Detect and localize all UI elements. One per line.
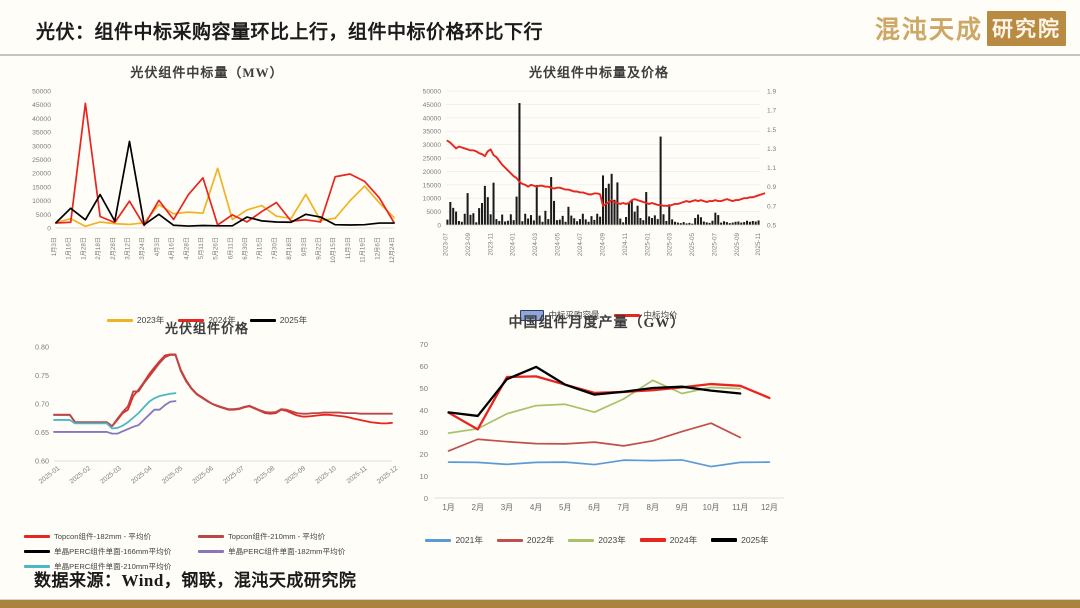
bar <box>746 221 748 225</box>
legend-swatch <box>425 539 451 542</box>
axis-tick-label: 15000 <box>32 184 51 191</box>
legend-swatch <box>568 539 594 542</box>
axis-tick-label: 0.60 <box>35 457 49 466</box>
chart-svg-module-price: 0.600.650.700.750.802025-012025-022025-0… <box>14 341 400 521</box>
bar <box>614 200 616 225</box>
bar <box>550 177 552 225</box>
header-divider <box>0 54 1080 56</box>
legend-item: 2024年 <box>640 534 697 546</box>
axis-tick-label: 2025-03 <box>99 465 123 486</box>
bar <box>507 221 509 225</box>
axis-tick-label: 45000 <box>423 102 442 109</box>
data-source-note: 数据来源：Wind，钢联，混沌天成研究院 <box>34 566 356 591</box>
axis-tick-label: 12月 <box>761 503 778 512</box>
legend-label: 2024年 <box>670 534 697 546</box>
axis-tick-label: 2023-09 <box>465 233 472 257</box>
axis-tick-label: 6月30日 <box>242 237 249 260</box>
legend-label: 2022年 <box>527 534 554 546</box>
legend-item: 2021年 <box>425 534 482 546</box>
axis-tick-label: 2025-11 <box>755 233 762 256</box>
bar <box>703 222 705 225</box>
bar <box>556 220 558 225</box>
bar <box>642 220 644 225</box>
legend-label: Topcon组件-210mm - 平均价 <box>228 531 325 542</box>
axis-tick-label: 2025-07 <box>222 465 246 486</box>
axis-tick-label: 11月3日 <box>345 237 352 259</box>
axis-tick-label: 2月18日 <box>95 237 102 260</box>
axis-tick-label: 20000 <box>423 169 442 176</box>
axis-tick-label: 50 <box>420 384 428 393</box>
bar <box>608 184 610 225</box>
axis-tick-label: 0.7 <box>767 203 776 210</box>
legend-item: 单晶PERC组件单面-182mm平均价 <box>198 546 358 557</box>
bar <box>628 203 630 225</box>
chart-legend-monthly-output: 2021年 2022年 2023年 2024年 2025年 <box>400 534 794 546</box>
bar <box>501 215 503 225</box>
axis-tick-label: 5000 <box>36 212 51 219</box>
legend-label: 单晶PERC组件单面-166mm平均价 <box>54 546 171 557</box>
bar <box>553 201 555 225</box>
axis-tick-label: 2025-03 <box>667 233 674 257</box>
bar <box>472 213 474 225</box>
axis-tick-label: 25000 <box>423 156 442 163</box>
axis-tick-label: 1.9 <box>767 89 776 96</box>
legend-swatch <box>24 550 50 553</box>
chart-svg-monthly-output: 0102030405060701月2月3月4月5月6月7月8月9月10月11月1… <box>400 338 794 528</box>
axis-tick-label: 11月19日 <box>360 237 367 263</box>
axis-tick-label: 7月 <box>617 503 629 512</box>
bar <box>717 215 719 225</box>
axis-tick-label: 2024-03 <box>532 233 539 257</box>
axis-tick-label: 9月22日 <box>316 237 323 260</box>
bar <box>510 214 512 225</box>
bar <box>455 212 457 225</box>
bar <box>755 222 757 225</box>
axis-tick-label: 2025-11 <box>346 465 369 485</box>
bar <box>481 203 483 225</box>
axis-tick-label: 6月11日 <box>227 237 234 259</box>
axis-tick-label: 2025-10 <box>314 465 338 486</box>
axis-tick-label: 70 <box>420 340 428 349</box>
axis-tick-label: 30000 <box>32 143 51 150</box>
bar <box>530 215 532 225</box>
axis-tick-label: 60 <box>420 362 428 371</box>
axis-tick-label: 0.70 <box>35 400 49 409</box>
axis-tick-label: 0.75 <box>35 371 49 380</box>
bar <box>518 103 520 225</box>
axis-tick-label: 0 <box>424 494 428 503</box>
bar <box>567 207 569 225</box>
chart-svg-bid-volume: 0500010000150002000025000300003500040000… <box>14 85 400 290</box>
bar <box>452 208 454 225</box>
axis-tick-label: 1月16日 <box>66 237 73 260</box>
axis-tick-label: 1月28日 <box>80 237 87 260</box>
bar <box>573 218 575 225</box>
bar <box>634 212 636 225</box>
axis-tick-label: 2025-05 <box>161 465 185 486</box>
axis-tick-label: 0 <box>437 223 441 230</box>
chart-title-bid-volume-price: 光伏组件中标量及价格 <box>404 62 794 81</box>
bar <box>648 216 650 225</box>
series-line <box>54 354 392 426</box>
bar <box>662 214 664 225</box>
axis-tick-label: 8月 <box>647 503 659 512</box>
bar <box>758 220 760 225</box>
chart-svg-bid-volume-price: 0500010000150002000025000300003500040000… <box>404 85 794 285</box>
axis-tick-label: 1月 <box>442 503 454 512</box>
bar <box>706 222 708 225</box>
slide-root: 光伏：组件中标采购容量环比上行，组件中标价格环比下行 混沌天成 研究院 光伏组件… <box>0 0 1080 608</box>
axis-tick-label: 2025-02 <box>69 465 93 486</box>
axis-tick-label: 15000 <box>423 182 442 189</box>
bar <box>737 222 739 225</box>
axis-tick-label: 2025-08 <box>253 465 277 486</box>
axis-tick-label: 2025-06 <box>191 465 215 486</box>
axis-tick-label: 8月18日 <box>286 237 293 260</box>
axis-tick-label: 35000 <box>423 129 442 136</box>
axis-tick-label: 2025-05 <box>689 233 696 257</box>
bar <box>469 215 471 225</box>
axis-tick-label: 0.5 <box>767 223 776 230</box>
axis-tick-label: 0 <box>47 226 51 233</box>
bar <box>458 221 460 225</box>
axis-tick-label: 12月24日 <box>389 237 396 263</box>
bar <box>504 222 506 225</box>
bar <box>711 221 713 225</box>
axis-tick-label: 10 <box>420 472 428 481</box>
bar <box>665 221 667 225</box>
series-line <box>449 423 741 451</box>
axis-tick-label: 2月 <box>472 503 484 512</box>
chart-panel-module-price: 光伏组件价格 0.600.650.700.750.802025-012025-0… <box>14 318 400 568</box>
bar <box>674 222 676 225</box>
axis-tick-label: 10000 <box>423 196 442 203</box>
bar <box>700 217 702 225</box>
bar <box>625 217 627 225</box>
bar <box>752 221 754 225</box>
axis-tick-label: 1.1 <box>767 165 776 172</box>
bar <box>660 137 662 225</box>
page-title: 光伏：组件中标采购容量环比上行，组件中标价格环比下行 <box>36 17 543 44</box>
axis-tick-label: 9月3日 <box>301 237 308 256</box>
bar <box>464 214 466 225</box>
chart-title-module-price: 光伏组件价格 <box>14 318 400 337</box>
axis-tick-label: 5月26日 <box>213 237 220 260</box>
axis-tick-label: 3月12日 <box>124 237 131 260</box>
bar <box>585 219 587 225</box>
bar <box>622 222 624 225</box>
bar <box>645 192 647 225</box>
legend-label: 2021年 <box>455 534 482 546</box>
bar <box>493 183 495 225</box>
bar <box>490 214 492 225</box>
bar <box>714 213 716 225</box>
bar <box>498 221 500 225</box>
bar <box>547 219 549 225</box>
bar <box>605 188 607 225</box>
legend-item: 2023年 <box>568 534 625 546</box>
slide-header: 光伏：组件中标采购容量环比上行，组件中标价格环比下行 混沌天成 研究院 <box>0 0 1080 56</box>
bar <box>467 193 469 225</box>
bar <box>671 219 673 225</box>
axis-tick-label: 2024-01 <box>510 233 517 257</box>
axis-tick-label: 0.80 <box>35 343 49 352</box>
bar <box>562 216 564 225</box>
axis-tick-label: 4月3日 <box>154 237 161 256</box>
bar <box>570 216 572 225</box>
axis-tick-label: 2023-11 <box>487 233 494 256</box>
axis-tick-label: 3月24日 <box>139 237 146 260</box>
bar <box>590 216 592 225</box>
axis-tick-label: 3月 <box>501 503 513 512</box>
logo-wordmark: 混沌天成 <box>875 10 983 46</box>
bar <box>539 216 541 225</box>
axis-tick-label: 4月28日 <box>183 237 190 260</box>
axis-tick-label: 11月 <box>732 503 748 512</box>
legend-label: 单晶PERC组件单面-182mm平均价 <box>228 546 345 557</box>
bar <box>749 222 751 225</box>
series-line <box>449 376 770 429</box>
legend-label: 2023年 <box>598 534 625 546</box>
bar <box>559 220 561 225</box>
bar <box>654 215 656 225</box>
bar <box>461 222 463 225</box>
axis-tick-label: 2025-01 <box>644 233 651 257</box>
series-line <box>56 141 394 226</box>
axis-tick-label: 30 <box>420 428 428 437</box>
axis-tick-label: 0.65 <box>35 428 49 437</box>
chart-panel-monthly-output: 中国组件月度产量（GW） 0102030405060701月2月3月4月5月6月… <box>400 312 794 562</box>
axis-tick-label: 25000 <box>32 157 51 164</box>
bar <box>596 214 598 225</box>
bar <box>527 219 529 225</box>
bar <box>694 218 696 225</box>
axis-tick-label: 10000 <box>32 198 51 205</box>
bar <box>541 222 543 225</box>
axis-tick-label: 2025-01 <box>38 465 62 486</box>
bar <box>536 185 538 225</box>
axis-tick-label: 10月 <box>703 503 720 512</box>
legend-swatch <box>711 538 737 542</box>
bar <box>565 222 567 225</box>
axis-tick-label: 1.3 <box>767 146 776 153</box>
axis-tick-label: 40000 <box>32 116 51 123</box>
axis-tick-label: 12月6日 <box>374 237 381 260</box>
axis-tick-label: 50000 <box>423 89 442 96</box>
legend-label: 2025年 <box>741 534 768 546</box>
axis-tick-label: 0.9 <box>767 184 776 191</box>
axis-tick-label: 40 <box>420 406 428 415</box>
bar <box>599 217 601 225</box>
axis-tick-label: 20000 <box>32 171 51 178</box>
bar <box>544 211 546 225</box>
footer-accent-bar <box>0 600 1080 608</box>
legend-swatch <box>198 535 224 538</box>
axis-tick-label: 2023-07 <box>442 233 449 257</box>
bar <box>446 220 448 225</box>
axis-tick-label: 40000 <box>423 115 442 122</box>
chart-title-bid-volume: 光伏组件中标量（MW） <box>14 62 400 81</box>
bar <box>697 215 699 225</box>
bar <box>683 222 685 225</box>
legend-item: 单晶PERC组件单面-166mm平均价 <box>24 546 184 557</box>
bar <box>516 197 518 225</box>
legend-label: Topcon组件-182mm - 平均价 <box>54 531 151 542</box>
legend-swatch <box>497 539 523 542</box>
bar <box>478 208 480 225</box>
axis-tick-label: 2025-07 <box>712 233 719 257</box>
series-line <box>449 460 770 467</box>
brand-logo: 混沌天成 研究院 <box>875 8 1066 48</box>
legend-swatch <box>24 535 50 538</box>
bar <box>521 221 523 225</box>
bar <box>668 204 670 225</box>
bar <box>593 220 595 225</box>
axis-tick-label: 2025-12 <box>376 465 400 486</box>
axis-tick-label: 1.5 <box>767 127 776 134</box>
bar <box>576 221 578 225</box>
axis-tick-label: 4月16日 <box>169 237 176 260</box>
legend-swatch <box>198 550 224 553</box>
bar <box>619 219 621 225</box>
bar <box>743 222 745 225</box>
axis-tick-label: 5月 <box>559 503 571 512</box>
bar <box>582 214 584 225</box>
axis-tick-label: 2025-09 <box>284 465 308 486</box>
axis-tick-label: 7月30日 <box>271 237 278 260</box>
axis-tick-label: 10月15日 <box>330 237 337 263</box>
axis-tick-label: 7月15日 <box>257 237 264 260</box>
bar <box>723 221 725 225</box>
axis-tick-label: 1.7 <box>767 108 776 115</box>
axis-tick-label: 2025-09 <box>734 233 741 257</box>
series-line <box>449 367 741 416</box>
bar <box>637 206 639 225</box>
chart-panel-bid-volume-price: 光伏组件中标量及价格 05000100001500020000250003000… <box>404 62 794 312</box>
legend-item: Topcon组件-182mm - 平均价 <box>24 531 184 542</box>
legend-item: 2025年 <box>711 534 768 546</box>
chart-title-monthly-output: 中国组件月度产量（GW） <box>400 312 794 332</box>
bar <box>631 200 633 225</box>
axis-tick-label: 2024-07 <box>577 233 584 257</box>
axis-tick-label: 6月 <box>588 503 600 512</box>
axis-tick-label: 2024-09 <box>599 233 606 257</box>
legend-item: 2022年 <box>497 534 554 546</box>
bar <box>657 219 659 225</box>
bar <box>475 222 477 225</box>
axis-tick-label: 2024-11 <box>622 233 629 256</box>
axis-tick-label: 5000 <box>426 209 441 216</box>
bar <box>495 219 497 225</box>
bar <box>524 214 526 225</box>
legend-swatch <box>640 538 666 542</box>
axis-tick-label: 35000 <box>32 130 51 137</box>
axis-tick-label: 5月11日 <box>198 237 205 259</box>
axis-tick-label: 45000 <box>32 102 51 109</box>
axis-tick-label: 20 <box>420 450 428 459</box>
bar <box>484 186 486 225</box>
axis-tick-label: 9月 <box>676 503 688 512</box>
axis-tick-label: 30000 <box>423 142 442 149</box>
axis-tick-label: 4月 <box>530 503 542 512</box>
bar <box>487 197 489 225</box>
series-line <box>56 168 394 226</box>
bar <box>588 222 590 225</box>
bar <box>735 222 737 225</box>
logo-seal-badge: 研究院 <box>987 11 1066 46</box>
bar <box>651 218 653 225</box>
bar <box>449 202 451 225</box>
chart-panel-bid-volume: 光伏组件中标量（MW） 0500010000150002000025000300… <box>14 62 400 312</box>
axis-tick-label: 2月28日 <box>110 237 117 260</box>
axis-tick-label: 2025-04 <box>130 465 154 486</box>
bar <box>513 220 515 225</box>
bar <box>533 220 535 225</box>
axis-tick-label: 50000 <box>32 89 51 96</box>
bar <box>639 218 641 225</box>
bar <box>579 219 581 225</box>
axis-tick-label: 2024-05 <box>555 233 562 257</box>
legend-item: Topcon组件-210mm - 平均价 <box>198 531 358 542</box>
axis-tick-label: 1月3日 <box>51 237 58 256</box>
bar <box>726 222 728 225</box>
